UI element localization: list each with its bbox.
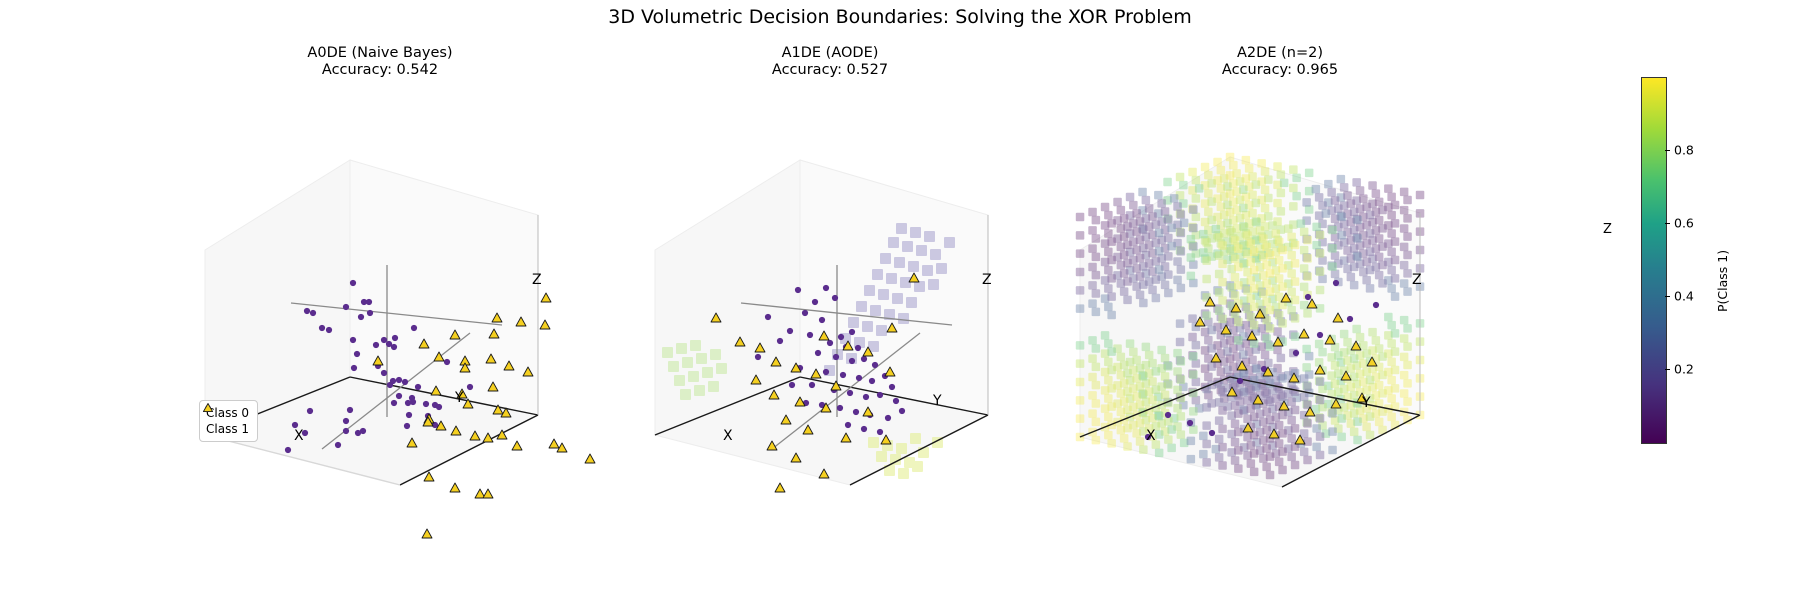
voxel: [1328, 409, 1337, 418]
voxel: [1164, 380, 1173, 389]
voxel: [1403, 397, 1412, 406]
voxel: [1291, 461, 1300, 470]
voxel: [1088, 354, 1097, 363]
voxel: [1187, 235, 1196, 244]
voxel: [1378, 261, 1387, 270]
voxel: [1275, 256, 1284, 265]
voxel: [1207, 344, 1216, 353]
voxel: [1120, 287, 1129, 296]
voxel: [1236, 177, 1245, 186]
voxel: [1247, 459, 1256, 468]
voxel: [1132, 356, 1141, 365]
voxel: [1327, 188, 1336, 197]
voxel: [1328, 446, 1337, 455]
voxel: [1262, 243, 1271, 252]
voxel: [1076, 304, 1085, 313]
voxel: [1218, 260, 1227, 269]
voxel: [1148, 212, 1157, 221]
voxel: [1218, 443, 1227, 452]
voxel: [1300, 246, 1309, 255]
voxel: [1252, 365, 1261, 374]
figure-suptitle: 3D Volumetric Decision Boundaries: Solvi…: [0, 6, 1800, 28]
voxel: [1337, 414, 1346, 423]
voxel: [1387, 376, 1396, 385]
voxel: [1189, 370, 1198, 379]
voxel: [1242, 156, 1251, 165]
voxel: [1161, 372, 1170, 381]
voxel: [1378, 242, 1387, 251]
voxel: [1123, 442, 1132, 451]
voxel: [1262, 444, 1271, 453]
axes3d-a0de[interactable]: Z Y X: [150, 85, 610, 505]
voxel: [1229, 161, 1238, 170]
voxel: [1076, 341, 1085, 350]
voxel: [1177, 412, 1186, 421]
voxel: [1387, 358, 1396, 367]
voxel: [1331, 361, 1340, 370]
voxel: [1322, 209, 1331, 218]
voxel: [1247, 239, 1256, 248]
voxel: [1152, 294, 1161, 303]
voxel: [1387, 339, 1396, 348]
subplot-title-a0de: A0DE (Naive Bayes) Accuracy: 0.542: [150, 45, 610, 79]
voxel: [1403, 361, 1412, 370]
voxel: [1142, 196, 1151, 205]
voxel: [1177, 265, 1186, 274]
colorbar-tick-2: [1665, 223, 1670, 224]
voxel: [1104, 339, 1113, 348]
colorbar-label-3: 0.8: [1674, 143, 1694, 158]
voxel: [1378, 389, 1387, 398]
voxel: [1220, 211, 1229, 220]
voxel: [1092, 363, 1101, 372]
voxel: [1291, 314, 1300, 323]
voxel: [1161, 281, 1170, 290]
voxel: [1334, 204, 1343, 213]
voxel: [1334, 351, 1343, 360]
voxel: [1177, 357, 1186, 366]
voxel: [1316, 451, 1325, 460]
voxel: [1202, 275, 1211, 284]
voxel: [1212, 225, 1221, 234]
voxel: [1107, 274, 1116, 283]
voxel: [1092, 418, 1101, 427]
voxel: [1120, 232, 1129, 241]
voxel: [1316, 286, 1325, 295]
voxel: [1123, 387, 1132, 396]
voxel: [1277, 170, 1286, 179]
voxel: [1350, 354, 1359, 363]
voxel: [1204, 373, 1213, 382]
axis-label-y-a0de: Y: [455, 390, 464, 406]
voxel: [1142, 343, 1151, 352]
voxel: [1250, 449, 1259, 458]
legend-item-class1[interactable]: Class 1: [206, 421, 249, 437]
voxel: [1120, 269, 1129, 278]
colorbar-tick-0: [1665, 369, 1670, 370]
voxel: [1280, 179, 1289, 188]
voxel: [1262, 426, 1271, 435]
voxel: [1234, 464, 1243, 473]
voxel: [1173, 349, 1182, 358]
voxel: [1161, 207, 1170, 216]
voxel: [1303, 419, 1312, 428]
voxel: [1300, 374, 1309, 383]
voxel: [1218, 296, 1227, 305]
voxel: [1391, 329, 1400, 338]
voxel: [1278, 246, 1287, 255]
voxel: [1275, 439, 1284, 448]
voxel: [1343, 191, 1352, 200]
axes3d-a1de[interactable]: Z Y X: [600, 85, 1060, 505]
voxel: [1088, 244, 1097, 253]
voxel: [1120, 434, 1129, 443]
voxel: [1375, 344, 1384, 353]
voxel: [1302, 198, 1311, 207]
voxel: [1132, 209, 1141, 218]
voxel: [1252, 180, 1261, 189]
voxel: [1207, 216, 1216, 225]
voxel: [1275, 311, 1284, 320]
voxel: [1362, 203, 1371, 212]
voxel: [1167, 425, 1176, 434]
voxel: [1278, 374, 1287, 383]
voxel: [1227, 228, 1236, 237]
voxel: [1366, 284, 1375, 293]
voxel: [1297, 219, 1306, 228]
axis-label-x-a0de: X: [294, 428, 304, 444]
voxel: [1312, 241, 1321, 250]
voxel: [1136, 291, 1145, 300]
voxel: [1177, 229, 1186, 238]
voxel: [1287, 269, 1296, 278]
colorbar-z-label: Z: [1603, 222, 1612, 237]
voxel: [1337, 175, 1346, 184]
voxel: [1416, 191, 1425, 200]
voxel: [1247, 276, 1256, 285]
voxel: [1277, 207, 1286, 216]
voxel: [1387, 413, 1396, 422]
voxel: [1261, 186, 1270, 195]
voxel: [1201, 163, 1210, 172]
voxel: [1189, 407, 1198, 416]
voxel: [1266, 287, 1275, 296]
voxel: [1152, 220, 1161, 229]
voxel: [1391, 384, 1400, 393]
voxel: [1231, 420, 1240, 429]
voxel: [1207, 197, 1216, 206]
voxel: [1250, 303, 1259, 312]
voxel: [1173, 367, 1182, 376]
voxel: [1204, 336, 1213, 345]
voxel: [1262, 334, 1271, 343]
voxel: [1334, 388, 1343, 397]
voxel: [1202, 238, 1211, 247]
subplot-a1de[interactable]: A1DE (AODE) Accuracy: 0.527: [600, 45, 1060, 515]
voxel: [1262, 298, 1271, 307]
voxel: [1104, 431, 1113, 440]
voxel: [1136, 364, 1145, 373]
voxel: [1245, 164, 1254, 173]
voxel: [1391, 366, 1400, 375]
voxel: [1223, 366, 1232, 375]
voxel: [1215, 435, 1224, 444]
colorbar-label-2: 0.6: [1674, 216, 1694, 231]
voxel: [1136, 272, 1145, 281]
subplot-a2de[interactable]: A2DE (n=2) Accuracy: 0.965: [1050, 45, 1510, 515]
voxel: [1337, 231, 1346, 240]
voxel: [1120, 361, 1129, 370]
voxel: [1213, 158, 1222, 167]
voxel: [1076, 268, 1085, 277]
voxel: [1139, 225, 1148, 234]
voxel: [1076, 231, 1085, 240]
voxel: [1273, 346, 1282, 355]
voxel: [1266, 342, 1275, 351]
voxel: [1152, 367, 1161, 376]
voxel: [1261, 204, 1270, 213]
voxel: [1104, 229, 1113, 238]
voxel: [1375, 418, 1384, 427]
voxel: [1250, 248, 1259, 257]
voxel: [1148, 396, 1157, 405]
voxel: [1278, 429, 1287, 438]
voxel: [1234, 244, 1243, 253]
voxel: [1179, 181, 1188, 190]
voxel: [1291, 259, 1300, 268]
voxel: [1391, 347, 1400, 356]
subplot-a0de[interactable]: A0DE (Naive Bayes) Accuracy: 0.542: [150, 45, 610, 515]
voxel: [1164, 234, 1173, 243]
legend[interactable]: Class 0 Class 1: [199, 400, 258, 442]
voxel: [1318, 348, 1327, 357]
axis-label-z-a1de: Z: [982, 272, 992, 288]
voxel: [1262, 279, 1271, 288]
voxel: [1202, 421, 1211, 430]
voxel: [1391, 292, 1400, 301]
voxel: [1264, 194, 1273, 203]
voxel: [1250, 266, 1259, 275]
voxel: [1362, 349, 1371, 358]
voxel: [1353, 216, 1362, 225]
voxel: [1207, 179, 1216, 188]
voxel: [1366, 229, 1375, 238]
voxel: [1170, 194, 1179, 203]
voxel: [1366, 412, 1375, 421]
voxel: [1104, 211, 1113, 220]
voxel: [1215, 270, 1224, 279]
voxel: [1384, 313, 1393, 322]
voxel: [1300, 283, 1309, 292]
voxel: [1104, 376, 1113, 385]
voxel: [1403, 214, 1412, 223]
voxel: [1356, 186, 1365, 195]
voxel: [1231, 273, 1240, 282]
axes3d-a2de[interactable]: Z Y X: [1050, 85, 1510, 505]
voxel: [1250, 413, 1259, 422]
voxel: [1277, 189, 1286, 198]
voxel: [1104, 266, 1113, 275]
voxel: [1215, 416, 1224, 425]
voxel: [1107, 237, 1116, 246]
voxel: [1284, 224, 1293, 233]
voxel: [1248, 191, 1257, 200]
voxel: [1387, 248, 1396, 257]
voxel: [1261, 167, 1270, 176]
voxel: [1400, 353, 1409, 362]
voxel: [1378, 206, 1387, 215]
voxel: [1303, 382, 1312, 391]
colorbar-label-0: 0.2: [1674, 362, 1694, 377]
voxel: [1340, 183, 1349, 192]
voxel: [1218, 315, 1227, 324]
subplot-model-name-a2de: A2DE (n=2): [1237, 45, 1323, 61]
voxel: [1262, 408, 1271, 417]
voxel: [1347, 383, 1356, 392]
voxel: [1088, 391, 1097, 400]
legend-label-class1: Class 1: [206, 421, 249, 437]
voxel: [1334, 369, 1343, 378]
voxel: [1092, 253, 1101, 262]
voxel: [1226, 153, 1235, 162]
voxel: [1177, 284, 1186, 293]
voxel: [1189, 352, 1198, 361]
voxel: [1136, 217, 1145, 226]
voxel: [1199, 450, 1208, 459]
voxel: [1107, 366, 1116, 375]
voxel: [1177, 247, 1186, 256]
voxel: [1387, 394, 1396, 403]
voxel: [1107, 347, 1116, 356]
voxel: [1107, 219, 1116, 228]
voxel: [1316, 414, 1325, 423]
voxel: [1403, 324, 1412, 333]
voxel: [1155, 265, 1164, 274]
voxel: [1375, 381, 1384, 390]
voxel: [1104, 394, 1113, 403]
voxel: [1234, 263, 1243, 272]
voxel: [1289, 165, 1298, 174]
voxel: [1302, 345, 1311, 354]
voxel: [1366, 431, 1375, 440]
voxel: [1157, 346, 1166, 355]
voxel: [1223, 347, 1232, 356]
voxel: [1287, 251, 1296, 260]
voxel: [1362, 258, 1371, 267]
voxel: [1247, 404, 1256, 413]
voxel: [1387, 321, 1396, 330]
voxel: [1403, 251, 1412, 259]
voxel: [1215, 251, 1224, 260]
voxel: [1092, 381, 1101, 390]
voxel: [1204, 189, 1213, 198]
voxel: [1076, 286, 1085, 295]
voxel: [1315, 340, 1324, 349]
voxel: [1264, 359, 1273, 368]
voxel: [1387, 284, 1396, 293]
voxel: [1337, 433, 1346, 442]
voxel: [1123, 406, 1132, 415]
voxel: [1275, 238, 1284, 247]
voxel: [1123, 222, 1132, 231]
colorbar[interactable]: 0.2 0.4 0.6 0.8 P(Class 1) Z: [1641, 77, 1781, 447]
voxel: [1189, 205, 1198, 214]
voxel: [1139, 299, 1148, 308]
voxel: [1092, 216, 1101, 225]
voxel: [1391, 274, 1400, 283]
voxel: [1220, 339, 1229, 348]
voxel: [1384, 184, 1393, 193]
voxel: [1391, 256, 1400, 264]
voxel: [1372, 189, 1381, 198]
voxel: [1088, 409, 1097, 418]
voxel: [1375, 198, 1384, 207]
voxel: [1218, 278, 1227, 287]
voxel: [1387, 266, 1396, 275]
voxel: [1231, 401, 1240, 410]
voxel: [1350, 391, 1359, 400]
voxel: [1387, 229, 1396, 238]
subplot-title-a2de: A2DE (n=2) Accuracy: 0.965: [1050, 45, 1510, 79]
voxel: [1403, 196, 1412, 205]
voxel: [1234, 318, 1243, 327]
voxel: [1378, 279, 1387, 288]
voxel: [1353, 436, 1362, 445]
voxel: [1391, 219, 1400, 228]
voxel: [1120, 397, 1129, 406]
voxel: [1192, 176, 1201, 185]
voxel: [1368, 328, 1377, 337]
voxel: [1278, 392, 1287, 401]
voxel: [1291, 387, 1300, 396]
subplot-model-name-a1de: A1DE (AODE): [782, 45, 879, 61]
voxel: [1223, 219, 1232, 228]
subplot-model-name-a0de: A0DE (Naive Bayes): [307, 45, 452, 61]
voxel: [1164, 252, 1173, 261]
voxel: [1088, 226, 1097, 235]
voxel: [1167, 224, 1176, 233]
voxel: [1136, 254, 1145, 263]
voxel: [1362, 368, 1371, 377]
voxel: [1366, 247, 1375, 256]
figure-canvas: 3D Volumetric Decision Boundaries: Solvi…: [0, 0, 1800, 600]
voxel: [1375, 234, 1384, 243]
voxel: [1387, 211, 1396, 220]
voxel: [1266, 452, 1275, 461]
voxel: [1161, 391, 1170, 400]
voxel: [1092, 436, 1101, 445]
voxel: [1104, 248, 1113, 257]
voxel: [1152, 239, 1161, 248]
voxel: [1278, 447, 1287, 456]
voxel: [1353, 234, 1362, 243]
voxel: [1176, 319, 1185, 328]
voxel: [1092, 234, 1101, 243]
voxel: [1247, 313, 1256, 322]
voxel: [1136, 382, 1145, 391]
voxel: [1234, 336, 1243, 345]
voxel: [1161, 354, 1170, 363]
voxel: [1202, 256, 1211, 265]
voxel: [1403, 379, 1412, 388]
voxel: [1375, 271, 1384, 280]
colorbar-gradient[interactable]: [1641, 77, 1667, 444]
voxel: [1126, 193, 1135, 202]
voxel: [1092, 308, 1101, 317]
voxel: [1262, 389, 1271, 398]
voxel: [1366, 376, 1375, 385]
voxel: [1107, 256, 1116, 265]
